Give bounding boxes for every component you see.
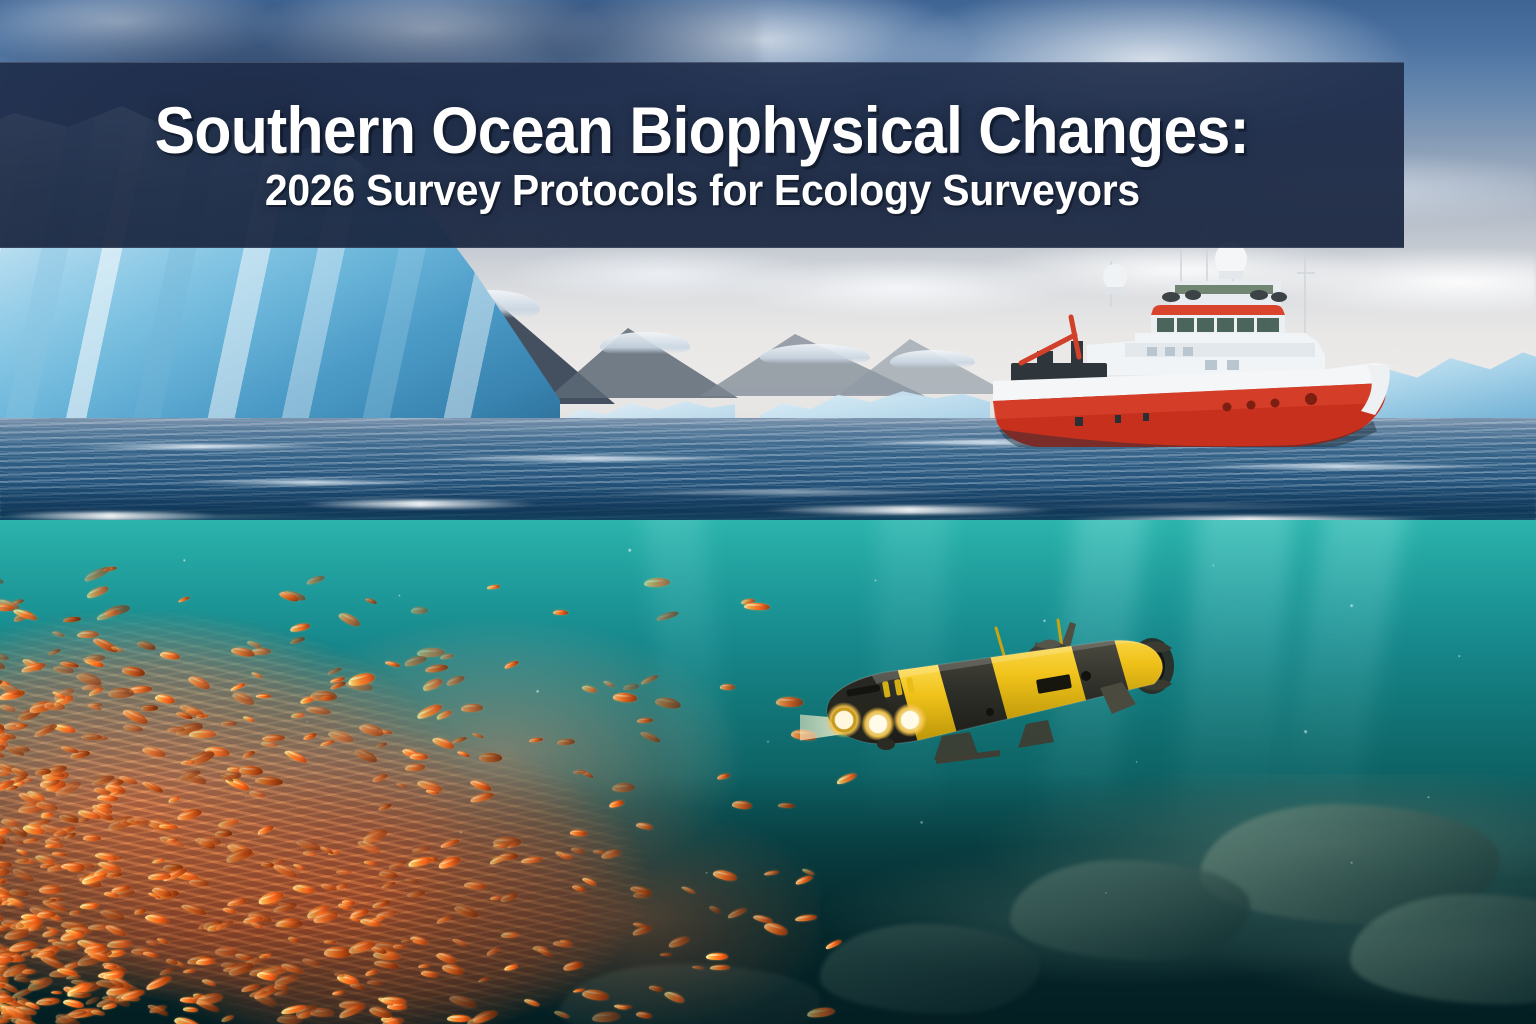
page-subtitle: 2026 Survey Protocols for Ecology Survey…: [265, 168, 1140, 214]
surface-foam: [0, 512, 220, 520]
research-vessel: [975, 215, 1395, 447]
page-title: Southern Ocean Biophysical Changes:: [155, 96, 1249, 165]
snow-cap: [890, 350, 975, 368]
auv-headlights: [826, 702, 927, 741]
poster-root: Southern Ocean Biophysical Changes: 2026…: [0, 0, 1536, 1024]
auv-port-thruster: [1081, 671, 1091, 681]
surface-foam: [300, 500, 540, 508]
wave-highlight: [420, 456, 760, 461]
wave-highlight: [60, 444, 340, 449]
auv-vehicle: [800, 618, 1200, 808]
auv-port-thruster: [986, 708, 994, 716]
wave-highlight: [1180, 464, 1500, 469]
krill-swarm-texture: [0, 556, 820, 1024]
surface-foam: [760, 506, 1060, 514]
title-banner: Southern Ocean Biophysical Changes: 2026…: [0, 62, 1404, 248]
